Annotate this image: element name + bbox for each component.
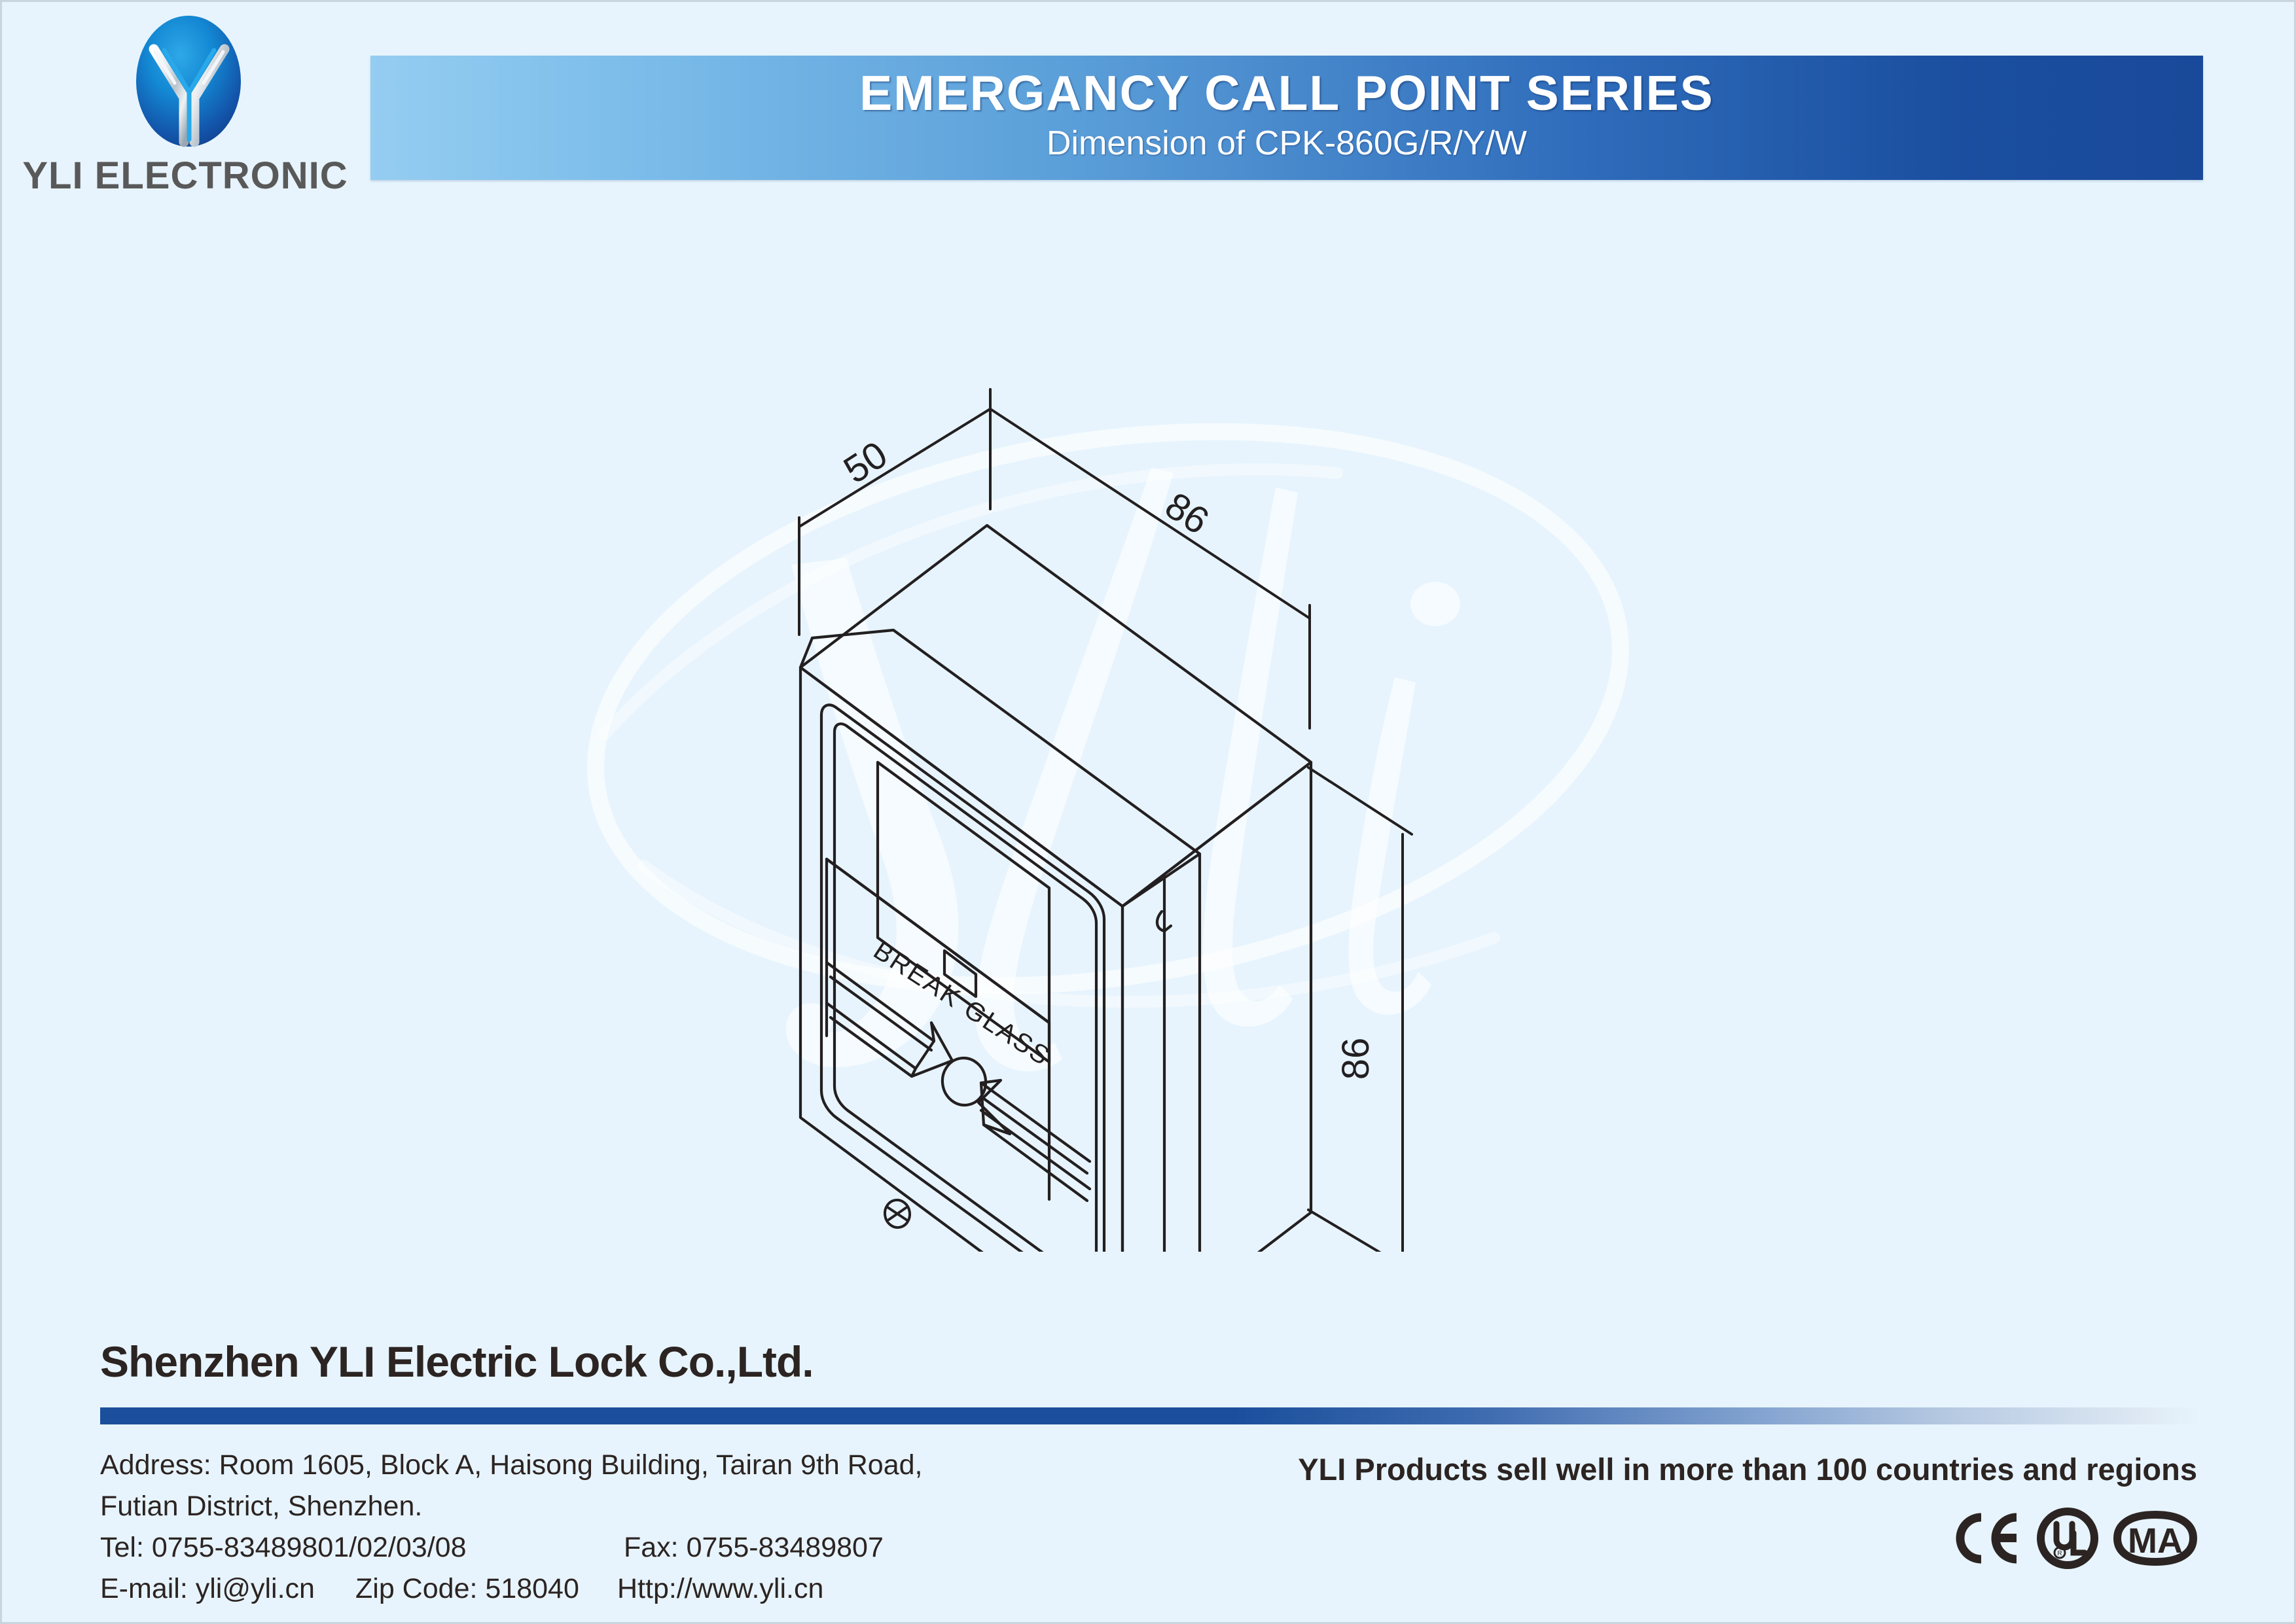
- dimension-label-50: 50: [836, 433, 895, 492]
- certification-marks: R MA: [1951, 1500, 2197, 1579]
- faceplate-label: BREAK GLASS: [869, 936, 1056, 1071]
- email-row: E-mail: yli@yli.cn Zip Code: 518040 Http…: [100, 1568, 1147, 1610]
- telephone: Tel: 0755-83489801/02/03/08: [100, 1527, 624, 1568]
- ul-mark-icon: R: [2036, 1507, 2099, 1573]
- page-title: EMERGANCY CALL POINT SERIES: [370, 65, 2203, 121]
- email[interactable]: E-mail: yli@yli.cn: [100, 1568, 355, 1610]
- phone-row: Tel: 0755-83489801/02/03/08 Fax: 0755-83…: [100, 1527, 1147, 1568]
- ma-mark-icon: MA: [2113, 1507, 2197, 1573]
- dimension-50-leader: [799, 389, 990, 635]
- ce-mark-icon: [1951, 1507, 2022, 1573]
- header-banner: EMERGANCY CALL POINT SERIES Dimension of…: [370, 56, 2203, 180]
- website[interactable]: Http://www.yli.cn: [617, 1568, 823, 1610]
- address-line-1: Address: Room 1605, Block A, Haisong Bui…: [100, 1445, 1147, 1486]
- svg-text:MA: MA: [2128, 1521, 2183, 1561]
- dimension-86w-leader: [990, 409, 1310, 728]
- brand-logo: YLI ELECTRONIC: [22, 11, 349, 201]
- footer-divider: [100, 1407, 2201, 1424]
- dimension-label-86-height: 86: [1335, 1038, 1377, 1080]
- dimension-label-86-width: 86: [1158, 484, 1217, 543]
- yli-y-logo-icon: [126, 11, 251, 152]
- address-line-2: Futian District, Shenzhen.: [100, 1486, 1147, 1527]
- zip-code: Zip Code: 518040: [355, 1568, 617, 1610]
- company-name: Shenzhen YLI Electric Lock Co.,Ltd.: [100, 1337, 814, 1386]
- svg-text:R: R: [2057, 1550, 2062, 1557]
- brand-wordmark: YLI ELECTRONIC: [22, 154, 349, 198]
- contact-block: Address: Room 1605, Block A, Haisong Bui…: [100, 1445, 1147, 1610]
- datasheet-page: YLI ELECTRONIC EMERGANCY CALL POINT SERI…: [0, 0, 2296, 1624]
- marketing-tagline: YLI Products sell well in more than 100 …: [1298, 1451, 2197, 1487]
- page-subtitle: Dimension of CPK-860G/R/Y/W: [370, 124, 2203, 163]
- product-dimension-drawing: 50 86 86 BREAK GLASS: [591, 349, 1736, 1252]
- dimension-86h-leader: [1308, 768, 1412, 1252]
- fax: Fax: 0755-83489807: [624, 1527, 884, 1568]
